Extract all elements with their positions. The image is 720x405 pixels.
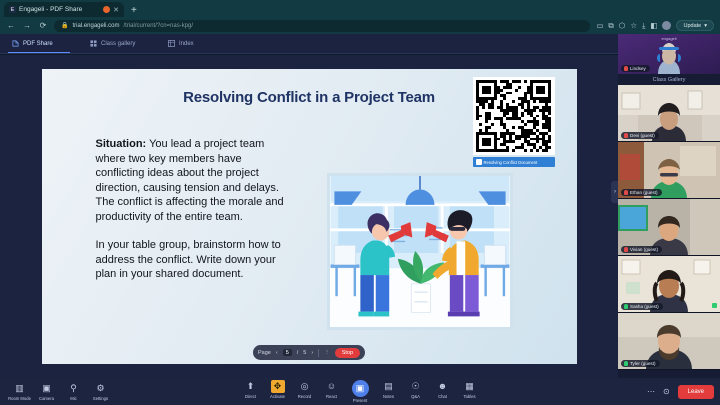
more-vertical-icon[interactable]: ⋮ [324, 350, 330, 356]
react-button[interactable]: ☺ React [318, 380, 345, 399]
record-icon: ◎ [298, 380, 312, 393]
camera-button[interactable]: ▣ Camera [33, 382, 60, 401]
participant-name-badge: Vivian (guest) [621, 246, 662, 253]
slide-task-paragraph: In your table group, brainstorm how to a… [96, 238, 291, 282]
tab-index[interactable]: Index [156, 34, 234, 53]
qr-caption[interactable]: Resolving Conflict Document [473, 157, 555, 167]
participant-name-badge: Ethan (guest) [621, 189, 662, 196]
page-separator: / [297, 350, 299, 356]
presenter-name-badge: Lindsey [621, 65, 650, 72]
bookmark-star-icon[interactable]: ☆ [630, 21, 637, 30]
qr-code[interactable] [473, 77, 555, 155]
slide-situation-text: You lead a project team where two key me… [96, 138, 284, 223]
page-label: Page [258, 350, 271, 356]
qr-code-modules [476, 80, 552, 152]
presenter-tile[interactable]: engageli Lindsey [618, 34, 720, 74]
new-tab-button[interactable]: + [126, 5, 142, 17]
react-smiley-icon: ☺ [325, 380, 339, 393]
participant-tile[interactable]: Vivian (guest) [618, 199, 720, 256]
session-actions-group: ⬆ Direct ✥ Activate ◎ Record ☺ React ▣ P… [237, 380, 483, 403]
direct-button[interactable]: ⬆ Direct [237, 380, 264, 399]
browser-tab[interactable]: E Engageli - PDF Share ✕ [4, 2, 124, 17]
participant-tile[interactable]: Sasha (guest) [618, 256, 720, 313]
class-gallery-sidebar: engageli Lindsey Class Gallery › [618, 34, 720, 378]
mic-muted-icon [624, 66, 628, 71]
participant-name: Sasha (guest) [630, 304, 659, 309]
mic-muted-icon [624, 190, 628, 195]
chevron-left-icon[interactable]: ‹ [276, 350, 278, 356]
split-screen-icon[interactable]: ◧ [650, 21, 657, 30]
tab-pdf-share-label: PDF Share [23, 41, 53, 47]
chat-label: Chat [438, 394, 447, 399]
mic-button[interactable]: ⚲ Mic [60, 382, 87, 401]
participant-tile[interactable]: Devi (guest) [618, 85, 720, 142]
browser-toolbar: ← → ⟳ 🔒 trial.engageli.com/trial/current… [0, 17, 720, 34]
forward-arrow-icon[interactable]: → [22, 21, 32, 30]
extensions-icon[interactable]: ⬡ [619, 21, 626, 30]
participant-name: Tyler (guest) [630, 361, 656, 366]
tables-label: Tables [463, 394, 475, 399]
activate-button[interactable]: ✥ Activate [264, 380, 291, 399]
bottom-toolbar: ▥ Room Mode ▣ Camera ⚲ Mic ⚙ Settings ⬆ … [0, 378, 720, 405]
total-pages-value: 5 [303, 350, 306, 356]
index-table-icon [168, 40, 175, 47]
record-label: Record [298, 394, 312, 399]
grid-gallery-icon [90, 40, 97, 47]
close-icon[interactable]: ✕ [113, 6, 119, 14]
slide-situation-label: Situation: [96, 138, 147, 150]
back-arrow-icon[interactable]: ← [6, 21, 16, 30]
question-answer-icon: ☉ [409, 380, 423, 393]
leave-button[interactable]: Leave [678, 385, 714, 399]
mic-on-icon [624, 361, 628, 366]
help-question-icon[interactable]: ⊙ [663, 387, 670, 396]
session-right-group: ⋯ ⊙ Leave [647, 385, 714, 399]
mic-icon: ⚲ [67, 382, 81, 395]
participant-tile[interactable]: Ethan (guest) [618, 142, 720, 199]
browser-tabstrip: E Engageli - PDF Share ✕ + [0, 0, 720, 17]
presenter-name: Lindsey [630, 66, 646, 71]
tab-index-label: Index [179, 41, 194, 47]
media-cast-icon[interactable]: ▭ [596, 21, 603, 30]
mic-label: Mic [70, 396, 77, 401]
speaking-indicator [712, 303, 717, 308]
engageli-classroom-window: E Engageli - PDF Share ✕ + ← → ⟳ 🔒 trial… [0, 0, 720, 405]
tab-class-gallery-label: Class gallery [101, 41, 135, 47]
browser-chrome: E Engageli - PDF Share ✕ + ← → ⟳ 🔒 trial… [0, 0, 720, 34]
stop-share-button[interactable]: Stop [335, 348, 360, 358]
chat-smiley-icon: ☻ [436, 380, 450, 393]
qa-button[interactable]: ☉ Q&A [402, 380, 429, 399]
settings-label: Settings [93, 396, 108, 401]
address-bar-path: /trial/current/?cn=nas-kpg/ [124, 23, 194, 29]
qr-caption-label: Resolving Conflict Document [484, 160, 538, 165]
pdf-share-icon [12, 40, 19, 47]
qr-code-block[interactable]: Resolving Conflict Document [473, 77, 555, 167]
document-icon [476, 159, 482, 165]
chevron-right-icon[interactable]: › [311, 350, 313, 356]
slide-illustration [327, 173, 513, 330]
present-screen-icon: ▣ [352, 380, 369, 397]
present-button[interactable]: ▣ Present [345, 380, 375, 403]
participant-name: Devi (guest) [630, 133, 655, 138]
participant-name-badge: Sasha (guest) [621, 303, 663, 310]
mic-muted-icon [624, 133, 628, 138]
app-tab-strip: PDF Share Class gallery Index [0, 34, 618, 54]
participant-tiles: › Devi (guest) [618, 85, 720, 370]
chevron-down-icon: ▾ [704, 23, 707, 29]
address-bar-host: trial.engageli.com [72, 23, 119, 29]
slide-situation-paragraph: Situation: You lead a project team where… [96, 137, 291, 224]
tables-button[interactable]: ▦ Tables [456, 380, 483, 399]
camera-icon: ▣ [40, 382, 54, 395]
class-gallery-label: Class Gallery [618, 74, 720, 85]
browser-toolbar-actions: ▭ ⧉ ⬡ ☆ ⤓ ◧ Update ▾ [596, 20, 714, 31]
profile-avatar-icon[interactable] [662, 21, 671, 30]
two-colleagues-arguing-with-megaphones-illustration [330, 176, 510, 327]
tab-class-gallery[interactable]: Class gallery [78, 34, 156, 53]
participant-name-badge: Tyler (guest) [621, 360, 660, 367]
participant-name: Ethan (guest) [630, 190, 658, 195]
reload-icon[interactable]: ⟳ [38, 21, 48, 30]
engageli-logo-icon: E [9, 6, 16, 13]
present-label: Present [353, 398, 367, 403]
update-button[interactable]: Update ▾ [676, 20, 714, 31]
chat-button[interactable]: ☻ Chat [429, 380, 456, 399]
notes-icon: ▤ [382, 380, 396, 393]
current-page-value[interactable]: 5 [283, 349, 292, 356]
screen-share-indicator-icon [103, 6, 110, 13]
react-label: React [326, 394, 337, 399]
gear-icon: ⚙ [94, 382, 108, 395]
address-bar[interactable]: 🔒 trial.engageli.com/trial/current/?cn=n… [54, 20, 590, 32]
mic-on-icon [624, 304, 628, 309]
notes-button[interactable]: ▤ Notes [375, 380, 402, 399]
browser-tab-title: Engageli - PDF Share [19, 6, 100, 13]
mic-muted-icon [624, 247, 628, 252]
downloads-icon[interactable]: ⤓ [642, 21, 645, 31]
page-navigation-bar[interactable]: Page ‹ 5 / 5 › ⋮ Stop [253, 345, 365, 360]
room-mode-icon: ▥ [13, 382, 27, 395]
notes-label: Notes [383, 394, 394, 399]
qa-label: Q&A [411, 394, 420, 399]
device-controls-group: ▥ Room Mode ▣ Camera ⚲ Mic ⚙ Settings [0, 382, 114, 401]
room-mode-label: Room Mode [8, 396, 31, 401]
participant-name-badge: Devi (guest) [621, 132, 659, 139]
camera-label: Camera [39, 396, 54, 401]
divider [318, 349, 319, 357]
engageli-brand-label: engageli [661, 36, 676, 41]
tables-grid-icon: ▦ [463, 380, 477, 393]
activate-icon: ✥ [271, 380, 285, 393]
presentation-stage: Resolving Conflict in a Project Team Sit… [0, 55, 618, 378]
pdf-slide[interactable]: Resolving Conflict in a Project Team Sit… [42, 69, 577, 364]
slide-body-text: Situation: You lead a project team where… [96, 137, 291, 282]
update-button-label: Update [683, 23, 701, 29]
room-mode-button[interactable]: ▥ Room Mode [6, 382, 33, 401]
record-button[interactable]: ◎ Record [291, 380, 318, 399]
settings-button[interactable]: ⚙ Settings [87, 382, 114, 401]
more-horizontal-icon[interactable]: ⋯ [647, 387, 655, 396]
direct-icon: ⬆ [244, 380, 258, 393]
participant-name: Vivian (guest) [630, 247, 658, 252]
tab-pdf-share[interactable]: PDF Share [0, 34, 78, 53]
direct-label: Direct [245, 394, 256, 399]
share-screen-icon[interactable]: ⧉ [608, 21, 613, 31]
participant-tile[interactable]: Tyler (guest) [618, 313, 720, 370]
activate-label: Activate [270, 394, 285, 399]
lock-icon: 🔒 [61, 22, 68, 29]
